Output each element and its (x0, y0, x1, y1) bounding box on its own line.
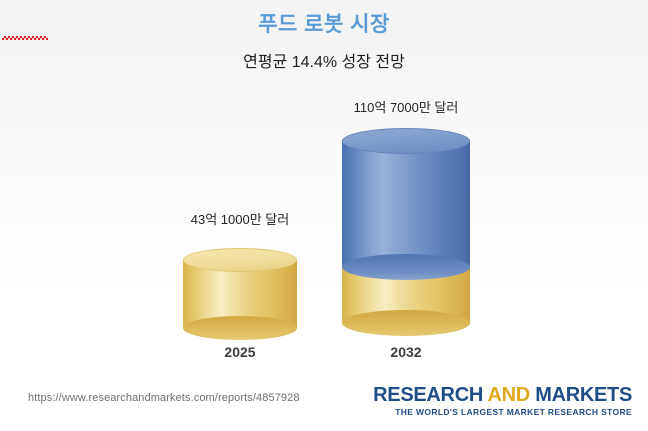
bar-2025-cylinder-top (183, 248, 297, 272)
bar-2032-value-label: 110억 7000만 달러 (306, 100, 506, 116)
bar-group-2032 (342, 128, 470, 334)
chart-slide: 푸드 로봇 시장 연평균 14.4% 성장 전망 43억 1000만 달러 20… (0, 0, 648, 431)
bar-group-2025 (183, 248, 297, 334)
bar-2025-cylinder-bottom (183, 316, 297, 340)
footer: https://www.researchandmarkets.com/repor… (0, 376, 648, 431)
brand-word-and: AND (488, 384, 530, 406)
brand-word-research: RESEARCH (373, 384, 483, 406)
brand-word-markets: MARKETS (535, 384, 632, 406)
bar-2032-segment-seam (342, 254, 470, 280)
brand-tagline: THE WORLD'S LARGEST MARKET RESEARCH STOR… (373, 407, 632, 418)
bar-2032-cylinder-top (342, 128, 470, 154)
plot-area: 43억 1000만 달러 2025 110억 7000만 달러 2032 (0, 0, 648, 380)
brand-logo: RESEARCH AND MARKETS THE WORLD'S LARGEST… (373, 384, 632, 418)
axis-label-2025: 2025 (183, 343, 297, 361)
bar-2032-blue-segment-body (342, 141, 470, 267)
brand-name: RESEARCH AND MARKETS (373, 384, 632, 406)
bar-2032-cylinder-bottom (342, 310, 470, 336)
axis-label-2032: 2032 (342, 343, 470, 361)
bar-2025-value-label: 43억 1000만 달러 (140, 212, 340, 228)
source-url[interactable]: https://www.researchandmarkets.com/repor… (28, 392, 300, 404)
